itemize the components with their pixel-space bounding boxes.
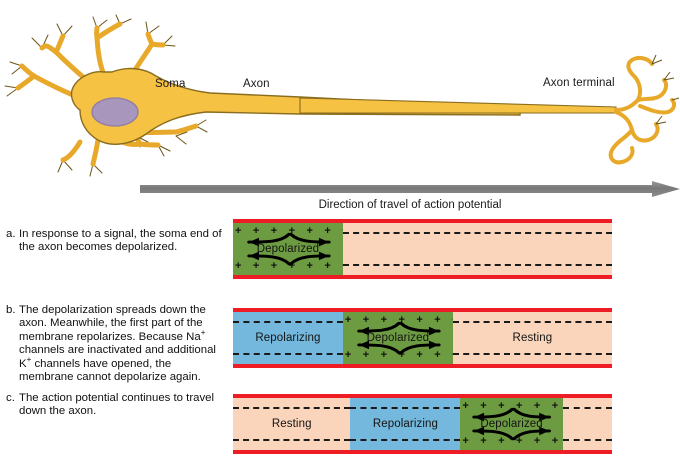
inner-dash-bottom-a [343,264,612,266]
inner-dash-top-a [343,232,612,234]
membrane-b: Repolarizing + + + + + + + + + + + + + +… [233,308,612,368]
panel-a-membrane: + + + + + + + + + + + + + + + + + + + + … [233,219,612,279]
inner-dash-top-c3 [563,407,612,409]
figure-canvas: Soma Axon Axon terminal Direction of tra… [0,0,680,474]
inner-dash-bottom-b2 [453,353,612,355]
direction-of-travel-arrow [140,181,680,197]
zone-label-resting-c: Resting [272,418,312,430]
zone-depolarized-b: + + + + + + + + + + + + + + + + + + + + … [343,312,453,364]
caption-a-text: In response to a signal, the soma end of… [6,228,228,255]
caption-b-part-3: channels have opened, the membrane canno… [19,358,201,383]
caption-c: c. The action potential continues to tra… [6,392,228,419]
axon-label: Axon [243,78,270,90]
zone-repolarizing-c: Repolarizing [350,398,460,450]
zone-resting-c1: Resting [233,398,350,450]
caption-c-text: The action potential continues to travel… [6,392,228,419]
zone-label-depolarized-a: Depolarized [257,243,319,255]
caption-c-marker: c. [6,392,15,405]
inner-dash-bottom-b1 [233,353,343,355]
inner-dash-bottom-c3 [563,439,612,441]
axon-terminal-label: Axon terminal [543,77,615,89]
zone-resting-b: Resting [453,312,612,364]
inner-dash-top-b1 [233,321,343,323]
zone-depolarized-a: + + + + + + + + + + + + + + + + + + + + … [233,223,343,275]
inner-dash-bottom-c1 [233,439,350,441]
zone-repolarizing-b: Repolarizing [233,312,343,364]
panel-b-membrane: Repolarizing + + + + + + + + + + + + + +… [233,308,612,368]
nucleus [92,98,138,126]
membrane-a: + + + + + + + + + + + + + + + + + + + + … [233,219,612,279]
inner-dash-top-b2 [453,321,612,323]
soma-label: Soma [155,78,185,90]
zone-label-resting-b: Resting [513,332,553,344]
zone-resting-c2 [563,398,612,450]
inner-dash-bottom-c2 [350,439,460,441]
panel-c-membrane: Resting Repolarizing + + + + + + + + + +… [233,394,612,454]
caption-b-marker: b. [6,304,16,317]
inner-dash-top-c2 [350,407,460,409]
zone-label-depolarized-c: Depolarized [480,418,542,430]
zone-label-depolarized-b: Depolarized [367,332,429,344]
caption-a-marker: a. [6,228,16,241]
caption-b: b. The depolarization spreads down the a… [6,304,228,384]
direction-of-travel-label: Direction of travel of action potential [140,199,680,211]
caption-a: a. In response to a signal, the soma end… [6,228,228,255]
membrane-c: Resting Repolarizing + + + + + + + + + +… [233,394,612,454]
zone-depolarized-c: + + + + + + + + + + + + + + + + + + + + … [460,398,562,450]
neuron-illustration [0,14,680,179]
sodium-superscript: + [201,328,206,337]
caption-b-text: The depolarization spreads down the axon… [6,304,228,384]
zone-label-repolarizing-b: Repolarizing [255,332,320,344]
zone-resting-a [343,223,612,275]
inner-dash-top-c1 [233,407,350,409]
caption-b-part-1: The depolarization spreads down the axon… [19,304,206,343]
zone-label-repolarizing-c: Repolarizing [373,418,438,430]
